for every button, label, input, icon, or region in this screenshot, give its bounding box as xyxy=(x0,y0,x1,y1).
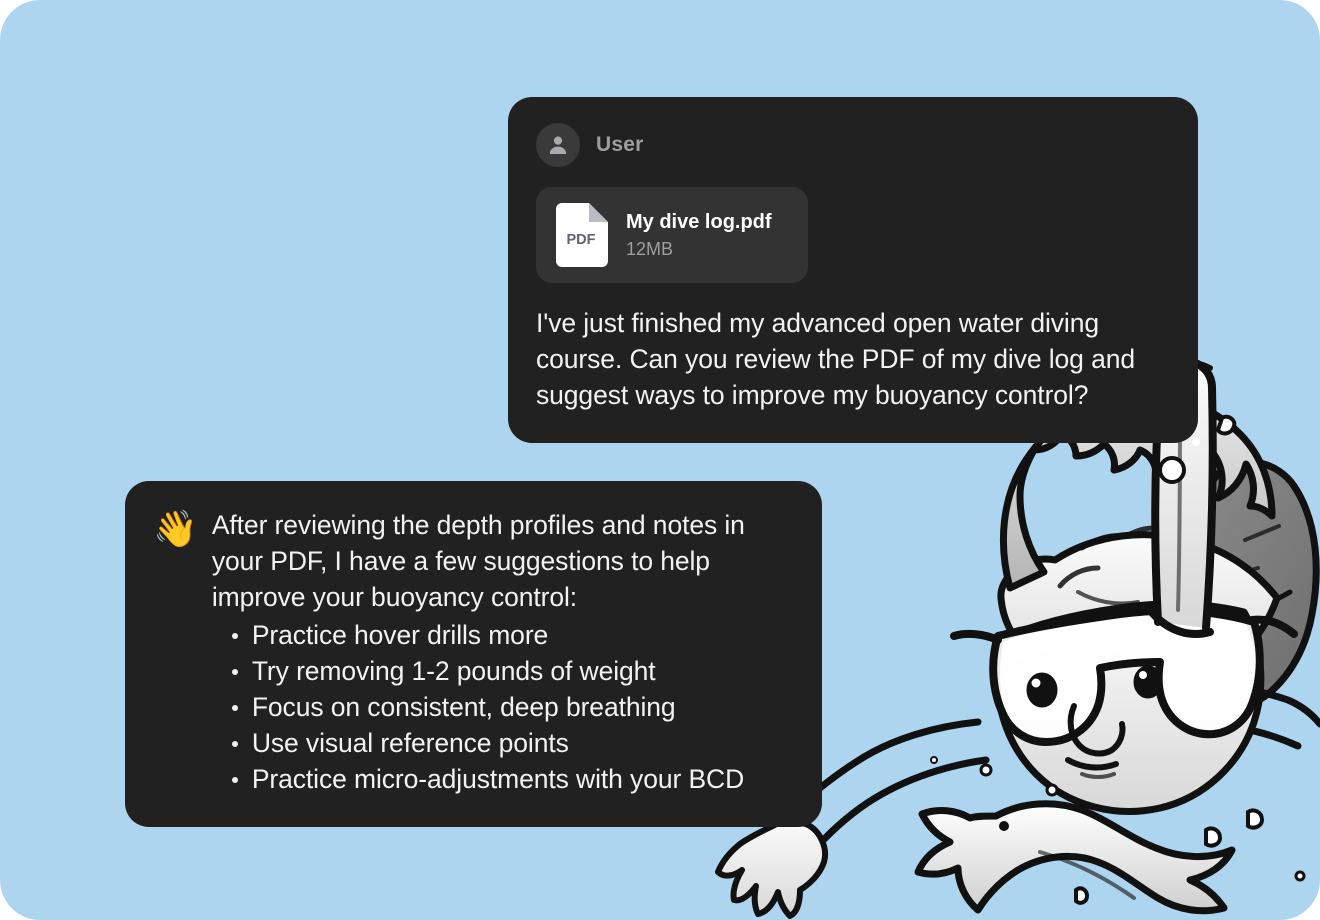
assistant-message-bubble: 👋 After reviewing the depth profiles and… xyxy=(125,481,822,827)
list-item: Focus on consistent, deep breathing xyxy=(226,689,792,725)
attachment-file-name: My dive log.pdf xyxy=(626,211,772,234)
waving-hand-emoji: 👋 xyxy=(153,509,198,549)
list-item: Try removing 1-2 pounds of weight xyxy=(226,653,792,689)
user-name-label: User xyxy=(596,133,644,157)
pdf-file-icon: PDF xyxy=(556,203,608,267)
person-avatar-icon xyxy=(546,133,570,157)
user-message-text: I've just finished my advanced open wate… xyxy=(536,305,1170,413)
avatar xyxy=(536,123,580,167)
pdf-icon-label: PDF xyxy=(567,232,596,248)
assistant-message-text: After reviewing the depth profiles and n… xyxy=(212,507,792,797)
attachment-card[interactable]: PDF My dive log.pdf 12MB xyxy=(536,187,808,283)
user-message-bubble: User PDF My dive log.pdf 12MB I've just … xyxy=(508,97,1198,443)
suggestion-list: Practice hover drills more Try removing … xyxy=(212,617,792,797)
page-root: User PDF My dive log.pdf 12MB I've just … xyxy=(0,0,1320,920)
user-message-header: User xyxy=(536,123,1170,167)
list-item: Practice hover drills more xyxy=(226,617,792,653)
attachment-file-size: 12MB xyxy=(626,239,772,260)
list-item: Practice micro-adjustments with your BCD xyxy=(226,761,792,797)
assistant-intro-text: After reviewing the depth profiles and n… xyxy=(212,510,745,612)
chat-thread: User PDF My dive log.pdf 12MB I've just … xyxy=(0,0,1320,920)
list-item: Use visual reference points xyxy=(226,725,792,761)
